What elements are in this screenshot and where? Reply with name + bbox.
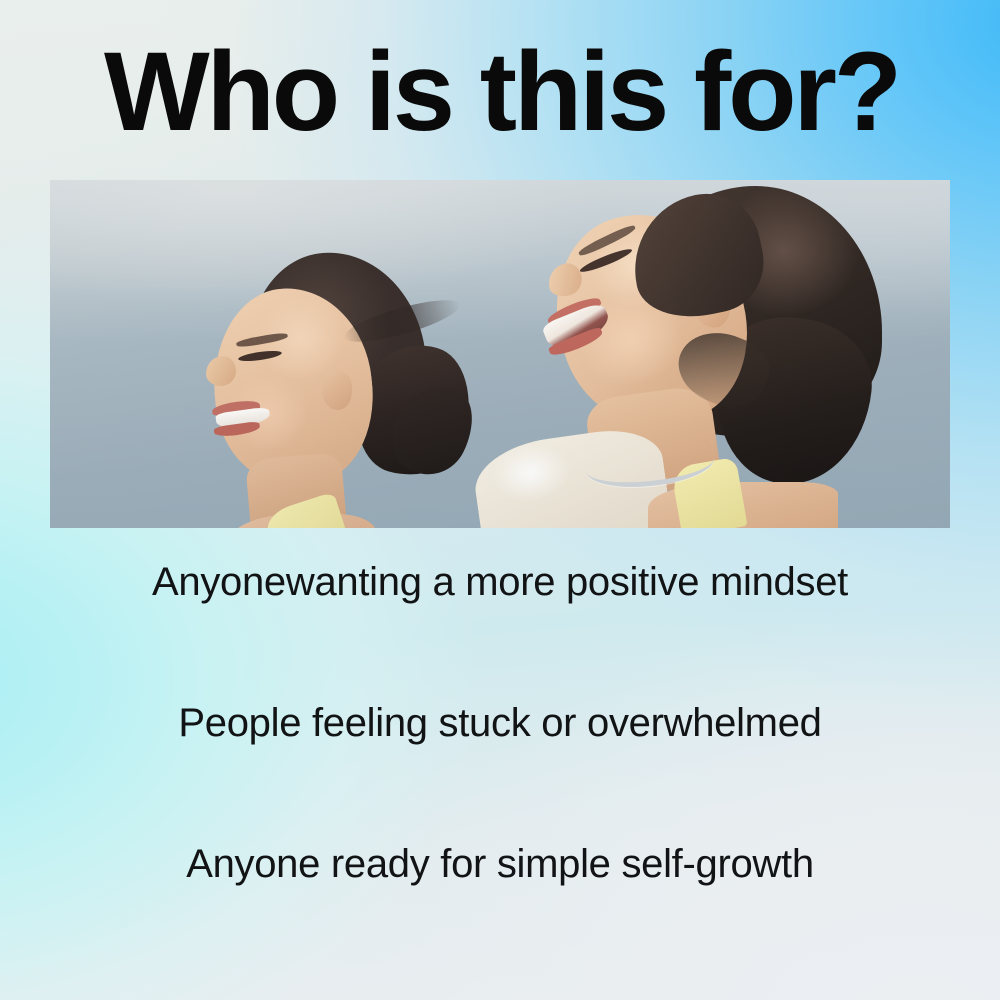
list-item: Anyone ready for simple self-growth <box>0 844 1000 884</box>
page-title: Who is this for? <box>104 36 924 148</box>
left-nose <box>206 356 236 386</box>
list-item: People feeling stuck or overwhelmed <box>0 703 1000 743</box>
list-item: Anyonewanting a more positive mindset <box>0 562 1000 602</box>
photo-stage <box>50 180 950 528</box>
bullet-list: Anyonewanting a more positive mindset Pe… <box>0 552 1000 884</box>
subject-woman-right <box>520 186 920 528</box>
hero-photo <box>50 180 950 528</box>
left-ear <box>322 370 352 410</box>
slide-canvas: Who is this for? <box>0 0 1000 1000</box>
subject-woman-left <box>170 252 500 528</box>
